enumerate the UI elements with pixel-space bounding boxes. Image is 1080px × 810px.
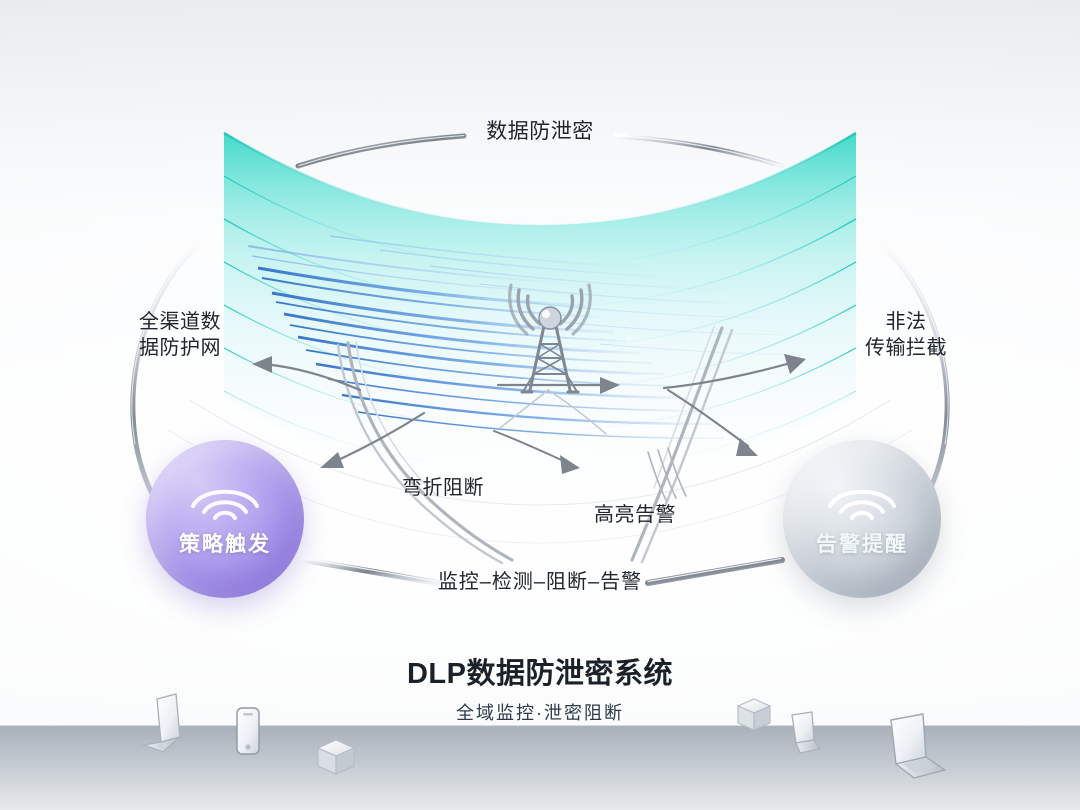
laptop-icon bbox=[792, 712, 820, 753]
laptop-icon bbox=[144, 694, 180, 752]
cube-icon bbox=[318, 740, 354, 774]
diagram-canvas: 策略触发 告警提醒 数据防泄密 全渠道数 据防护网 非法 传输拦截 弯折阻断 高… bbox=[0, 0, 1080, 810]
cube-icon bbox=[738, 699, 770, 730]
phone-icon bbox=[237, 708, 259, 754]
floor-devices bbox=[0, 0, 1080, 810]
device-layer bbox=[0, 0, 1080, 810]
laptop-icon bbox=[891, 714, 945, 778]
